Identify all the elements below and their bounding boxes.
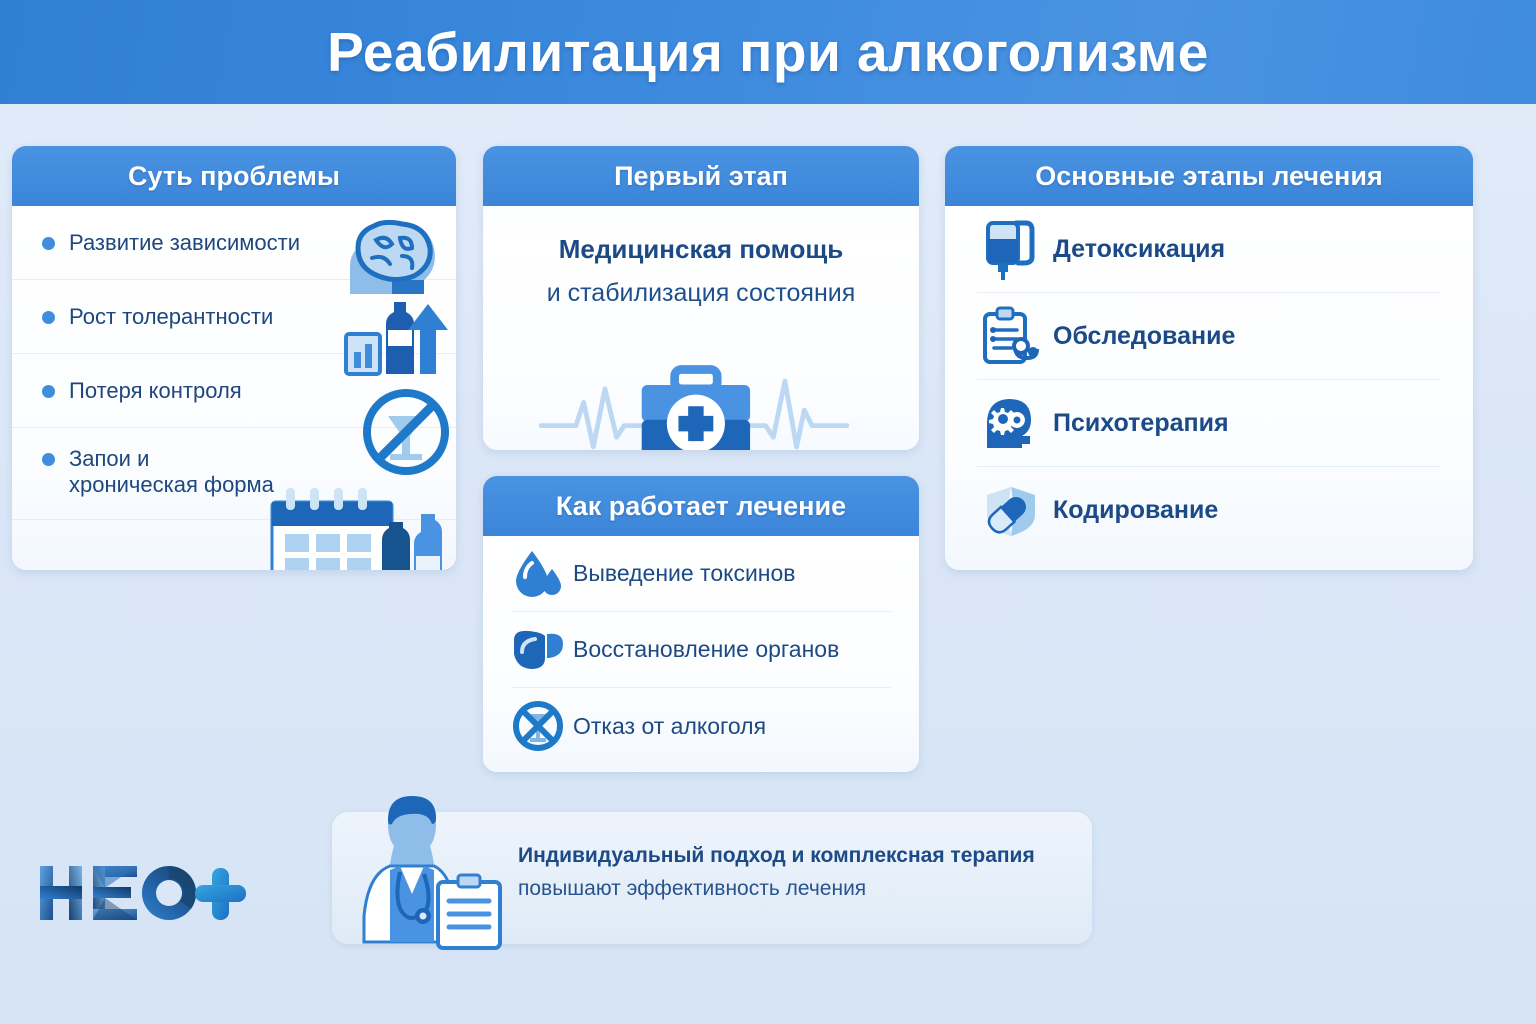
bullet-label: Рост толерантности (69, 304, 273, 330)
list-item[interactable]: Обследование (977, 293, 1441, 380)
list-item[interactable]: Детоксикация (977, 206, 1441, 293)
logo-letter-e (93, 866, 137, 920)
card-first-stage: Первый этап Медицинская помощь и стабили… (483, 146, 919, 450)
first-aid-kit-ecg-icon (483, 354, 905, 450)
how-treatment-label: Восстановление органов (573, 636, 839, 663)
card-first-stage-header: Первый этап (483, 146, 919, 206)
no-alcohol-icon (511, 700, 565, 752)
stage-label: Психотерапия (1053, 409, 1229, 438)
list-item[interactable]: Отказ от алкоголя (511, 688, 891, 764)
bullet-label-multiline: Запои и хроническая форма (69, 446, 274, 498)
page-header: Реабилитация при алкоголизме (0, 0, 1536, 104)
first-stage-line1: Медицинская помощь (483, 234, 919, 265)
how-treatment-label: Отказ от алкоголя (573, 713, 766, 740)
water-droplet-icon (511, 549, 565, 599)
card-problem: Суть проблемы Развитие зависимости Рост … (12, 146, 456, 570)
head-gears-icon (977, 394, 1043, 452)
card-how-treatment-body: Выведение токсинов Восстановление органо… (483, 536, 919, 772)
card-how-treatment-title: Как работает лечение (556, 491, 846, 522)
bullet-dot (42, 453, 55, 466)
first-stage-line2: и стабилизация состояния (483, 279, 919, 308)
list-item[interactable]: Кодирование (977, 467, 1441, 554)
stage-label: Детоксикация (1053, 235, 1225, 264)
bullet-dot (42, 237, 55, 250)
card-main-stages-title: Основные этапы лечения (1035, 161, 1382, 192)
card-first-stage-body: Медицинская помощь и стабилизация состоя… (483, 234, 919, 450)
card-problem-body: Развитие зависимости Рост толерантности … (12, 206, 456, 570)
bullet-label-line2: хроническая форма (69, 472, 274, 498)
list-item[interactable]: Запои и хроническая форма (12, 428, 456, 520)
card-main-stages: Основные этапы лечения Детоксикация (945, 146, 1473, 570)
brand-logo[interactable] (36, 858, 256, 928)
card-how-treatment-header: Как работает лечение (483, 476, 919, 536)
clipboard-stethoscope-icon (977, 306, 1043, 366)
bullet-label-line1: Запои и (69, 446, 274, 472)
list-item[interactable]: Рост толерантности (12, 280, 456, 354)
bullet-label: Потеря контроля (69, 378, 242, 404)
footer-text-block: Индивидуальный подход и комплексная тера… (518, 844, 1035, 901)
card-how-treatment: Как работает лечение Выведение токсинов (483, 476, 919, 772)
iv-drip-bag-icon (977, 217, 1043, 281)
liver-icon (511, 628, 565, 672)
how-treatment-label: Выведение токсинов (573, 560, 796, 587)
logo-letter-o (142, 866, 196, 920)
bullet-label: Развитие зависимости (69, 230, 300, 256)
card-problem-header: Суть проблемы (12, 146, 456, 206)
footer-line1: Индивидуальный подход и комплексная тера… (518, 844, 1035, 868)
stage-label: Кодирование (1053, 496, 1218, 525)
card-problem-title: Суть проблемы (128, 161, 340, 192)
stage-label: Обследование (1053, 322, 1235, 351)
pill-shield-icon (977, 483, 1043, 539)
list-item[interactable]: Психотерапия (977, 380, 1441, 467)
list-item[interactable]: Выведение токсинов (511, 536, 891, 612)
list-item[interactable]: Развитие зависимости (12, 206, 456, 280)
list-item[interactable]: Восстановление органов (511, 612, 891, 688)
card-main-stages-header: Основные этапы лечения (945, 146, 1473, 206)
card-main-stages-body: Детоксикация Обследование (945, 206, 1473, 570)
list-item[interactable]: Потеря контроля (12, 354, 456, 428)
bullet-dot (42, 385, 55, 398)
card-first-stage-title: Первый этап (614, 161, 788, 192)
logo-letter-n (40, 866, 82, 920)
bullet-dot (42, 311, 55, 324)
page-title: Реабилитация при алкоголизме (327, 20, 1209, 84)
logo-plus-icon (195, 868, 246, 920)
footer-line2: повышают эффективность лечения (518, 877, 1035, 901)
doctor-clipboard-icon (350, 790, 520, 950)
